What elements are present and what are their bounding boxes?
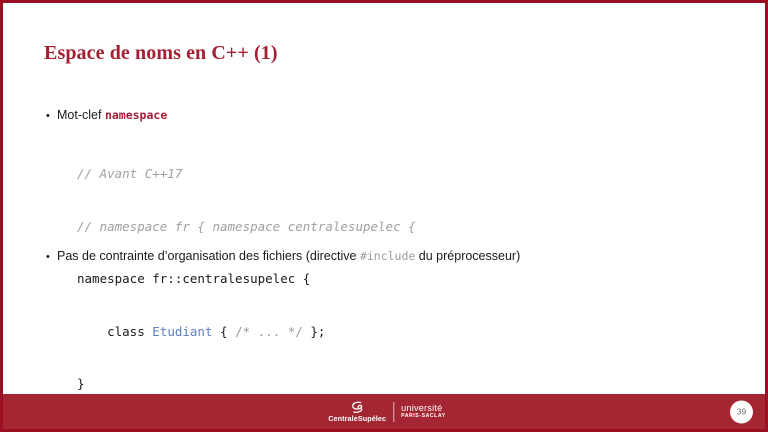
logo-universite-text: université	[401, 404, 446, 413]
bullet-text-2: Pas de contrainte d’organisation des fic…	[57, 248, 520, 264]
page-title: Espace de noms en C++ (1)	[44, 42, 278, 65]
code-text: }	[77, 376, 85, 391]
bullet-2-prefix: Pas de contrainte d’organisation des fic…	[57, 249, 360, 263]
bullet-item-1: • Mot-clef namespace	[46, 107, 167, 124]
logo-divider	[393, 402, 394, 422]
page-number-badge: 39	[730, 400, 753, 423]
logo-paris-saclay-text: PARIS-SACLAY	[401, 414, 446, 419]
bullet-1-prefix: Mot-clef	[57, 108, 105, 122]
code-inline-comment: /* ... */	[235, 324, 303, 339]
bullet-2-keyword: #include	[360, 249, 415, 263]
code-block: // Avant C++17 // namespace fr { namespa…	[77, 130, 416, 428]
code-comment: // Avant C++17	[77, 166, 182, 181]
bullet-1-keyword: namespace	[105, 108, 167, 122]
bullet-marker-icon: •	[46, 249, 57, 265]
logo-centralesupelec-text: CentraleSupélec	[328, 415, 386, 422]
bullet-marker-icon: •	[46, 108, 57, 124]
code-line-2: // namespace fr { namespace centralesupe…	[77, 218, 416, 236]
code-line-1: // Avant C++17	[77, 165, 416, 183]
bullet-item-2: • Pas de contrainte d’organisation des f…	[46, 248, 520, 265]
logo-centralesupelec-block: CentraleSupélec	[328, 401, 386, 422]
code-line-3: namespace fr::centralesupelec {	[77, 270, 416, 288]
swirl-mark-icon	[347, 401, 367, 414]
logo-universite-block: université PARIS-SACLAY	[401, 404, 446, 420]
code-brace-close: };	[303, 324, 326, 339]
code-text: namespace fr::centralesupelec {	[77, 271, 310, 286]
slide-footer: CentraleSupélec université PARIS-SACLAY …	[3, 394, 768, 429]
code-line-5: }	[77, 375, 416, 393]
code-line-4: class Etudiant { /* ... */ };	[77, 323, 416, 341]
code-brace-open: {	[212, 324, 235, 339]
bullet-2-suffix: du préprocesseur)	[415, 249, 520, 263]
code-indent-class: class	[77, 324, 152, 339]
code-comment: // namespace fr { namespace centralesupe…	[77, 219, 416, 234]
slide: Espace de noms en C++ (1) • Mot-clef nam…	[0, 0, 768, 432]
code-type-name: Etudiant	[152, 324, 212, 339]
centralesupelec-logo: CentraleSupélec université PARIS-SACLAY	[328, 399, 445, 425]
bullet-text-1: Mot-clef namespace	[57, 107, 167, 123]
